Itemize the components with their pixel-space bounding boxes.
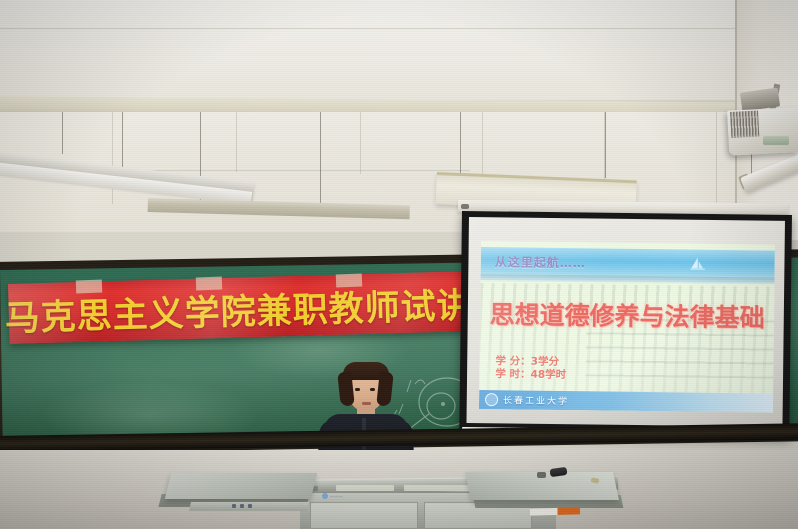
light-hanger-wire [122,112,123,170]
screen-roller-bracket [461,204,469,209]
projected-slide: 从这里起航…… 思想道德修养与法律基础 学 分：3学分 学 时：48学时 长春工… [479,241,775,413]
podium-rail-panel [336,485,394,491]
banner-tape [336,274,362,288]
ceiling-seam [0,28,798,29]
podium-button[interactable] [232,504,236,508]
slide-credits: 学 分：3学分 [495,355,559,369]
slide-hours: 学 时：48学时 [495,368,566,382]
classroom-photo: 马克思主义学院兼职教师试讲 从这里起航…… 思想道德修养与法律基础 学 分：3学… [0,0,798,529]
light-hanger-wire [62,112,63,154]
podium-drawer-left [310,502,418,529]
university-logo-icon [485,393,498,406]
sailboat-icon [689,256,707,274]
podium-button[interactable] [240,504,244,508]
wall-seam-3 [360,112,361,174]
podium-button[interactable] [248,504,252,508]
podium-label-sticker [530,507,580,515]
banner-tape [76,280,102,294]
presenter-mouth [362,402,371,405]
light-hanger-wire [460,112,461,180]
slide-tagline: 从这里起航…… [495,253,586,271]
podium-desk-left [165,473,317,499]
podium-rail-panel [404,485,474,491]
projector-lens [763,136,789,145]
podium-brand-logo [322,493,328,499]
wall-seam-2 [236,112,237,172]
remote-on-desk[interactable] [537,472,546,478]
presenter-hair-right [376,371,393,406]
ceiling [0,0,798,100]
projector-vent-grille [730,111,759,138]
light-hanger-wire [605,112,606,178]
presenter-eye-left [355,388,360,391]
slide-title: 思想道德修养与法律基础 [480,295,774,335]
podium-brand-text: ——— [330,494,343,499]
presenter-eye-right [370,388,375,391]
banner-tape [196,277,222,291]
university-name: 长春工业大学 [503,393,569,407]
wall-seam-1 [112,112,113,204]
light-hanger-wire [320,112,321,204]
